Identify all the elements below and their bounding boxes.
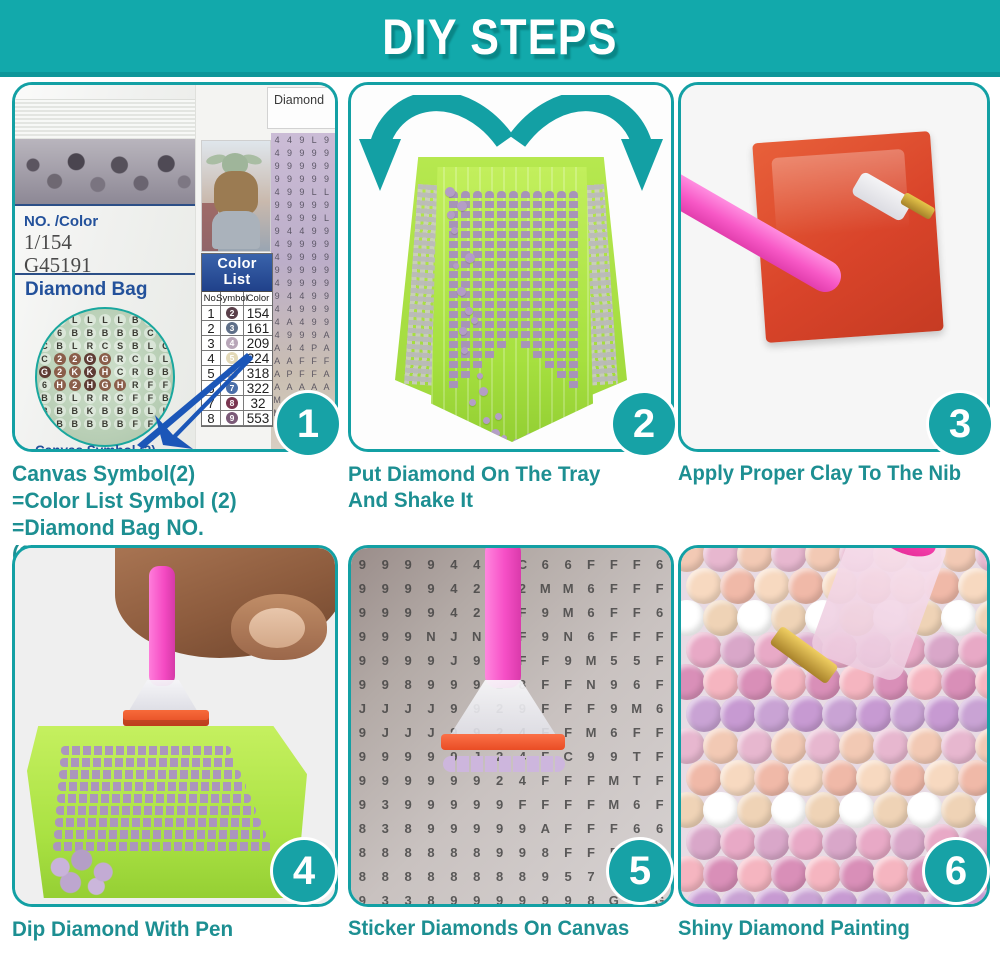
canvas-symbol-cell: 9 xyxy=(427,749,434,764)
diamond-gem xyxy=(681,600,705,636)
canvas-symbol-cell: 4 xyxy=(519,773,526,788)
canvas-symbol-cell: M xyxy=(631,701,642,716)
canvas-symbol-cell: 3 xyxy=(382,821,389,836)
color-symbol-icon: 2 xyxy=(226,307,238,319)
canvas-symbol-cell: B xyxy=(39,405,51,417)
diamond-gem xyxy=(822,760,858,796)
canvas-symbol-cell: 9 xyxy=(427,557,434,572)
canvas-strip-cell: 9 xyxy=(299,278,304,288)
canvas-strip-cell: 9 xyxy=(324,174,329,184)
canvas-symbol-cell: 9 xyxy=(565,893,572,905)
canvas-symbol-cell: 9 xyxy=(519,893,526,905)
canvas-symbol-cell: 9 xyxy=(359,581,366,596)
canvas-symbol-cell: L xyxy=(69,340,81,352)
canvas-strip-cell: F xyxy=(311,369,317,379)
tray-diamond-row xyxy=(60,758,236,767)
diamond-gem xyxy=(873,856,909,892)
canvas-strip-cell: 4 xyxy=(275,213,280,223)
diamond-gem xyxy=(822,824,858,860)
canvas-symbol-cell: F xyxy=(564,797,572,812)
canvas-strip-cell: 4 xyxy=(299,291,304,301)
step-cell-6: 6 Shiny Diamond Painting xyxy=(678,545,990,960)
diamond-gem xyxy=(975,664,987,700)
spilled-diamond xyxy=(469,399,476,406)
canvas-strip-cell: 9 xyxy=(299,265,304,275)
canvas-symbol-cell: 9 xyxy=(450,893,457,905)
diamond-gem xyxy=(703,664,739,700)
canvas-symbol-cell: R xyxy=(84,392,96,404)
canvas-strip-cell: 9 xyxy=(312,330,317,340)
canvas-symbol-cell: J xyxy=(427,725,434,740)
canvas-symbol-cell: 9 xyxy=(427,773,434,788)
canvas-symbol-cell: B xyxy=(54,392,66,404)
canvas-symbol-cell: 2 xyxy=(473,605,480,620)
step-cell-3: 3 Apply Proper Clay To The Nib xyxy=(678,82,990,537)
canvas-symbol-cell: T xyxy=(633,749,641,764)
canvas-symbol-cell: 9 xyxy=(382,605,389,620)
diamond-gem xyxy=(686,696,722,732)
diamond-gem xyxy=(754,696,790,732)
canvas-symbol-cell: F xyxy=(656,677,664,692)
canvas-strip-cell: 9 xyxy=(312,174,317,184)
canvas-strip-cell: A xyxy=(323,343,329,353)
diamond-gem xyxy=(958,568,987,604)
canvas-symbol-cell: C xyxy=(39,353,51,365)
canvas-symbol-cell: G xyxy=(84,353,96,365)
canvas-symbol-cell: L xyxy=(144,340,156,352)
canvas-symbol-cell: B xyxy=(39,327,51,339)
canvas-strip-cell: 4 xyxy=(299,343,304,353)
canvas-strip-cell: 9 xyxy=(287,161,292,171)
tray-diamond-row xyxy=(56,806,256,815)
bag-code-line2: G45191 xyxy=(24,255,189,276)
canvas-symbol-cell: F xyxy=(633,629,641,644)
canvas-strip-cell: 9 xyxy=(287,278,292,288)
canvas-symbol-cell: 6 xyxy=(587,581,594,596)
diamond-gem xyxy=(839,792,875,828)
canvas-symbol-cell: G xyxy=(39,366,51,378)
step-caption-6-line1: Shiny Diamond Painting xyxy=(678,916,978,942)
canvas-symbol-cell: M xyxy=(586,653,597,668)
canvas-symbol-cell: 9 xyxy=(359,653,366,668)
canvas-symbol-cell: 6 xyxy=(656,605,663,620)
canvas-symbol-cell: 9 xyxy=(427,821,434,836)
diamond-gem xyxy=(975,728,987,764)
step-panel-1: NO. /Color 1/154 G45191 Diamond Bag LLLL… xyxy=(12,82,338,452)
canvas-symbol-cell: M xyxy=(540,581,551,596)
diamond-gem xyxy=(737,856,773,892)
canvas-strip-cell: 9 xyxy=(299,252,304,262)
canvas-symbol-cell: 9 xyxy=(565,653,572,668)
diamond-gem xyxy=(788,760,824,796)
canvas-symbol-cell: B xyxy=(54,418,66,430)
color-list-header-symbol: Symbol xyxy=(221,292,244,306)
canvas-symbol-cell: 9 xyxy=(405,605,412,620)
canvas-symbol-cell: 9 xyxy=(359,725,366,740)
canvas-symbol-cell: F xyxy=(587,845,595,860)
canvas-symbol-cell: F xyxy=(656,797,664,812)
canvas-strip-cell: 9 xyxy=(312,252,317,262)
canvas-symbol-cell: 4 xyxy=(473,557,480,572)
canvas-strip-cell: 9 xyxy=(324,252,329,262)
step-badge-5: 5 xyxy=(609,840,671,902)
canvas-strip-cell: 9 xyxy=(312,161,317,171)
canvas-strip-cell: 9 xyxy=(324,200,329,210)
color-list-cell-no: 2 xyxy=(202,321,221,336)
canvas-symbol-cell: 8 xyxy=(405,821,412,836)
color-list-cell-symbol: 3 xyxy=(221,321,244,336)
canvas-symbol-cell: 3 xyxy=(382,797,389,812)
canvas-symbol-cell: 9 xyxy=(427,605,434,620)
canvas-symbol-cell: 9 xyxy=(450,701,457,716)
step-cell-4: 4 Dip Diamond With Pen xyxy=(12,545,338,960)
step-image-2 xyxy=(351,85,671,449)
diamond-gem xyxy=(788,824,824,860)
diamond-gem xyxy=(681,664,705,700)
step-badge-2: 2 xyxy=(613,393,675,455)
canvas-symbol-cell: 9 xyxy=(359,557,366,572)
canvas-symbol-cell: 8 xyxy=(382,869,389,884)
canvas-symbol-cell: L xyxy=(69,314,81,326)
canvas-symbol-cell: K xyxy=(84,366,96,378)
canvas-strip-cell: 4 xyxy=(287,304,292,314)
diamond-gem xyxy=(737,600,773,636)
canvas-symbol-cell: 8 xyxy=(542,845,549,860)
canvas-symbol-cell: F xyxy=(610,581,618,596)
canvas-strip-cell: A xyxy=(286,356,292,366)
canvas-symbol-cell: 5 xyxy=(610,653,617,668)
color-list-cell-no: 3 xyxy=(202,336,221,351)
canvas-symbol-cell: 9 xyxy=(382,749,389,764)
canvas-symbol-cell: 6 xyxy=(54,327,66,339)
diamond-gem xyxy=(822,696,858,732)
diamond-gem xyxy=(703,792,739,828)
diamond-gem xyxy=(924,632,960,668)
canvas-symbol-cell: F xyxy=(564,725,572,740)
canvas-symbol-cell: 8 xyxy=(473,869,480,884)
diamond-gem xyxy=(975,600,987,636)
canvas-strip-cell: 4 xyxy=(275,304,280,314)
canvas-symbol-cell: B xyxy=(114,327,126,339)
canvas-strip-cell: 4 xyxy=(275,148,280,158)
canvas-symbol-cell: F xyxy=(656,581,664,596)
canvas-symbol-cell: C xyxy=(159,340,171,352)
canvas-symbol-cell: C xyxy=(144,327,156,339)
color-list-row: 23161 xyxy=(202,321,272,336)
diamond-gem xyxy=(686,568,722,604)
canvas-symbol-cell: 8 xyxy=(427,869,434,884)
canvas-symbol-cell: M xyxy=(586,725,597,740)
canvas-strip-cell: 9 xyxy=(299,239,304,249)
canvas-symbol-cell: 9 xyxy=(542,605,549,620)
canvas-symbol-cell: 8 xyxy=(405,677,412,692)
canvas-symbol-cell: 9 xyxy=(610,749,617,764)
canvas-symbol-cell: 9 xyxy=(496,797,503,812)
canvas-symbol-cell: S xyxy=(114,340,126,352)
canvas-strip-cell: A xyxy=(274,356,280,366)
diamond-gem xyxy=(788,696,824,732)
canvas-symbol-cell: B xyxy=(144,314,156,326)
canvas-symbol-cell: 6 xyxy=(633,797,640,812)
spilled-diamond xyxy=(471,317,478,324)
canvas-symbol-cell: 6 xyxy=(633,677,640,692)
step-cell-5: 999944AC66FFF6999942A2MM6FFF999942FF9M6F… xyxy=(348,545,674,960)
canvas-symbol-cell: 8 xyxy=(382,845,389,860)
canvas-strip-cell: F xyxy=(324,356,330,366)
canvas-symbol-cell: N xyxy=(586,677,595,692)
diamond-gem xyxy=(856,696,892,732)
canvas-symbol-cell: 9 xyxy=(473,893,480,905)
canvas-symbol-cell: F xyxy=(633,581,641,596)
canvas-symbol-cell: 8 xyxy=(473,845,480,860)
canvas-strip-cell: A xyxy=(311,382,317,392)
canvas-strip-cell: 9 xyxy=(299,161,304,171)
canvas-strip-cell: 4 xyxy=(275,317,280,327)
canvas-symbol-cell: C xyxy=(39,340,51,352)
diamond-gem xyxy=(754,824,790,860)
canvas-symbol-cell: 9 xyxy=(382,629,389,644)
canvas-symbol-cell: M xyxy=(608,773,619,788)
canvas-symbol-cell: F xyxy=(564,701,572,716)
spilled-diamond xyxy=(479,387,488,396)
canvas-symbol-cell: F xyxy=(610,557,618,572)
canvas-symbol-cell: 9 xyxy=(427,581,434,596)
canvas-symbol-cell: G xyxy=(99,353,111,365)
spilled-diamond xyxy=(461,347,468,354)
page-title: DIY STEPS xyxy=(70,8,930,66)
canvas-symbol-cell: 9 xyxy=(450,821,457,836)
diamond-gem xyxy=(941,728,977,764)
canvas-symbol-cell: L xyxy=(39,314,51,326)
diamond-gem xyxy=(686,760,722,796)
color-list-cell-color: 161 xyxy=(244,321,272,336)
canvas-symbol-cell: 8 xyxy=(427,845,434,860)
canvas-strip-cell: 9 xyxy=(324,148,329,158)
diamond-gem xyxy=(958,696,987,732)
bag-label: NO. /Color 1/154 G45191 xyxy=(24,213,189,277)
step-cell-2: 2 Put Diamond On The Tray And Shake It xyxy=(348,82,674,537)
canvas-symbol-cell: 9 xyxy=(382,581,389,596)
color-list-cell-symbol: 4 xyxy=(221,336,244,351)
color-list-cell-color: 209 xyxy=(244,336,272,351)
bag-title: Diamond Bag xyxy=(25,279,147,301)
character-robe xyxy=(214,171,258,215)
canvas-symbol-cell: J xyxy=(405,725,412,740)
canvas-strip-cell: 9 xyxy=(275,174,280,184)
diamond-gem xyxy=(754,760,790,796)
canvas-symbol-cell: F xyxy=(587,557,595,572)
canvas-symbol-cell: 9 xyxy=(382,557,389,572)
canvas-symbol-cell: B xyxy=(84,327,96,339)
reference-picture xyxy=(201,140,271,252)
canvas-strip-cell: 9 xyxy=(312,304,317,314)
diamond-gem xyxy=(771,856,807,892)
canvas-symbol-cell: B xyxy=(114,418,126,430)
canvas-symbol-cell: 2 xyxy=(54,366,66,378)
canvas-symbol-cell: 6 xyxy=(587,629,594,644)
canvas-strip-cell: 9 xyxy=(275,291,280,301)
canvas-strip-cell: 9 xyxy=(312,265,317,275)
canvas-symbol-cell: 8 xyxy=(519,869,526,884)
canvas-symbol-cell: F xyxy=(587,701,595,716)
canvas-symbol-cell: 6 xyxy=(656,557,663,572)
canvas-symbol-cell: 2 xyxy=(54,353,66,365)
canvas-symbol-cell: C xyxy=(159,327,171,339)
canvas-symbol-cell: 9 xyxy=(519,845,526,860)
step-caption-4-line1: Dip Diamond With Pen xyxy=(12,916,325,942)
canvas-symbol-cell: 4 xyxy=(450,581,457,596)
canvas-symbol-cell: 9 xyxy=(382,677,389,692)
diamond-gem xyxy=(686,632,722,668)
canvas-symbol-cell: H xyxy=(84,379,96,391)
canvas-symbol-cell: B xyxy=(129,314,141,326)
canvas-strip-cell: F xyxy=(299,356,305,366)
step-badge-1: 1 xyxy=(277,393,339,455)
canvas-symbol-cell: F xyxy=(633,605,641,620)
canvas-strip-cell: 9 xyxy=(312,278,317,288)
canvas-symbol-cell: B xyxy=(99,418,111,430)
diamond-gem xyxy=(720,568,756,604)
canvas-symbol-cell: 9 xyxy=(405,749,412,764)
canvas-strip-cell: 9 xyxy=(275,200,280,210)
color-list-row: 12154 xyxy=(202,306,272,321)
canvas-symbol-cell: 8 xyxy=(450,845,457,860)
canvas-symbol-cell: 9 xyxy=(450,797,457,812)
canvas-strip-cell: 9 xyxy=(324,239,329,249)
canvas-symbol-cell: F xyxy=(564,677,572,692)
canvas-symbol-cell: 9 xyxy=(405,629,412,644)
spilled-diamond xyxy=(483,417,490,424)
canvas-strip-cell: 9 xyxy=(299,200,304,210)
canvas-strip-cell: 9 xyxy=(275,226,280,236)
canvas-symbol-cell: 9 xyxy=(359,629,366,644)
canvas-symbol-cell: 6 xyxy=(39,379,51,391)
spilled-diamond xyxy=(465,253,475,263)
canvas-strip-cell: 9 xyxy=(299,304,304,314)
canvas-symbol-cell: G xyxy=(99,379,111,391)
steps-grid: NO. /Color 1/154 G45191 Diamond Bag LLLL… xyxy=(0,82,1000,962)
canvas-strip-cell: 9 xyxy=(299,213,304,223)
diamond-gem xyxy=(720,696,756,732)
canvas-symbol-cell: J xyxy=(359,701,366,716)
canvas-symbol-cell: 9 xyxy=(473,797,480,812)
canvas-symbol-cell: F xyxy=(610,605,618,620)
canvas-symbol-cell: 9 xyxy=(542,629,549,644)
spilled-diamond xyxy=(453,263,459,269)
diamond-gem xyxy=(720,632,756,668)
step-panel-3: 3 xyxy=(678,82,990,452)
diamond-gem xyxy=(737,792,773,828)
diamond-gem xyxy=(873,792,909,828)
pointer-arrow-icon xyxy=(133,353,253,449)
canvas-symbol-cell: F xyxy=(610,629,618,644)
tray-diamond-rows xyxy=(51,746,271,850)
canvas-strip-cell: L xyxy=(312,135,317,145)
canvas-symbol-cell: F xyxy=(656,773,664,788)
spilled-diamond xyxy=(457,287,466,296)
canvas-strip-cell: 4 xyxy=(275,239,280,249)
canvas-symbol-cell: 8 xyxy=(359,845,366,860)
spilled-diamond xyxy=(477,373,483,379)
canvas-strip-cell: 4 xyxy=(275,330,280,340)
canvas-strip-cell: P xyxy=(311,343,317,353)
canvas-symbol-cell: 2 xyxy=(69,379,81,391)
canvas-strip-cell: L xyxy=(324,187,329,197)
step-panel-6: 6 xyxy=(678,545,990,907)
diamond-gem xyxy=(720,760,756,796)
shake-arrow-left-icon xyxy=(355,95,515,225)
diamond-gem xyxy=(958,632,987,668)
step-caption-5: Sticker Diamonds On Canvas xyxy=(348,916,661,942)
canvas-symbol-cell: 9 xyxy=(405,773,412,788)
canvas-symbol-cell: N xyxy=(426,629,435,644)
canvas-strip-cell: 4 xyxy=(287,343,292,353)
color-list-header-color: Color xyxy=(244,292,272,306)
canvas-symbol-cell: B xyxy=(129,327,141,339)
canvas-strip-cell: 9 xyxy=(299,330,304,340)
bag-zipper xyxy=(15,99,195,142)
canvas-symbol-cell: 8 xyxy=(359,821,366,836)
canvas-strip-cell: 9 xyxy=(287,265,292,275)
diamond-gem xyxy=(856,824,892,860)
canvas-symbol-cell: F xyxy=(564,821,572,836)
diamond-gem xyxy=(737,664,773,700)
canvas-symbol-cell: 8 xyxy=(587,893,594,905)
canvas-strip-cell: 9 xyxy=(324,226,329,236)
step-panel-4: 4 xyxy=(12,545,338,907)
diamond-gem xyxy=(890,824,926,860)
canvas-symbol-cell: F xyxy=(610,821,618,836)
tray-diamond-row xyxy=(58,782,246,791)
canvas-symbol-cell: J xyxy=(427,701,434,716)
canvas-symbol-cell: 3 xyxy=(405,893,412,905)
tray-diamond-row xyxy=(55,818,261,827)
canvas-symbol-cell: M xyxy=(608,797,619,812)
step-cell-1: NO. /Color 1/154 G45191 Diamond Bag LLLL… xyxy=(12,82,338,537)
canvas-strip-cell: 4 xyxy=(275,135,280,145)
canvas-symbol-cell: M xyxy=(563,581,574,596)
canvas-strip-cell: 9 xyxy=(287,187,292,197)
canvas-symbol-cell: 9 xyxy=(542,893,549,905)
canvas-strip-cell: 9 xyxy=(312,239,317,249)
canvas-strip-cell: 9 xyxy=(324,278,329,288)
canvas-strip-cell: A xyxy=(274,343,280,353)
canvas-symbol-cell: F xyxy=(541,677,549,692)
canvas-symbol-cell: F xyxy=(656,629,664,644)
canvas-symbol-cell: 9 xyxy=(405,581,412,596)
canvas-symbol-cell: 9 xyxy=(519,821,526,836)
step-caption-3-line1: Apply Proper Clay To The Nib xyxy=(678,461,978,487)
step-badge-3: 3 xyxy=(929,393,991,455)
canvas-strip-cell: 9 xyxy=(312,291,317,301)
canvas-symbol-cell: 8 xyxy=(427,893,434,905)
canvas-symbol-cell: J xyxy=(382,725,389,740)
step-panel-5: 999944AC66FFF6999942A2MM6FFF999942FF9M6F… xyxy=(348,545,674,907)
step-caption-5-line1: Sticker Diamonds On Canvas xyxy=(348,916,661,942)
bag-code-line1: 1/154 xyxy=(24,232,189,253)
bag-beads xyxy=(15,139,195,206)
canvas-symbol-cell: 6 xyxy=(633,821,640,836)
bag-no-color-label: NO. /Color xyxy=(24,213,189,230)
canvas-symbol-cell: 9 xyxy=(542,869,549,884)
spilled-diamond xyxy=(451,227,458,234)
canvas-symbol-cell: 9 xyxy=(427,677,434,692)
step-image-3 xyxy=(681,85,987,449)
diamond-gem xyxy=(681,792,705,828)
diamond-gem xyxy=(788,568,824,604)
canvas-symbol-cell: 6 xyxy=(542,557,549,572)
canvas-symbol-cell: 9 xyxy=(427,653,434,668)
